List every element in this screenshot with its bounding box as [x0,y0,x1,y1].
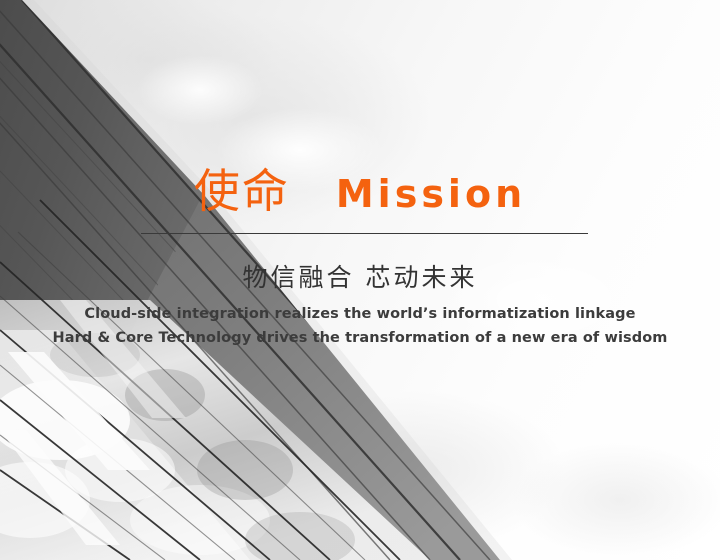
heading-divider [141,233,588,234]
description-block: Cloud-side integration realizes the worl… [0,302,720,350]
banner-content: 使命 Mission 物信融合 芯动未来 Cloud-side integrat… [0,0,720,560]
heading-title-cn: 使命 [194,168,290,214]
description-line-2: Hard & Core Technology drives the transf… [0,326,720,350]
heading-title-en: Mission [336,175,526,213]
mission-banner: 使命 Mission 物信融合 芯动未来 Cloud-side integrat… [0,0,720,560]
description-line-1: Cloud-side integration realizes the worl… [0,302,720,326]
banner-heading: 使命 Mission [0,168,720,214]
subtitle-cn: 物信融合 芯动未来 [0,258,720,294]
